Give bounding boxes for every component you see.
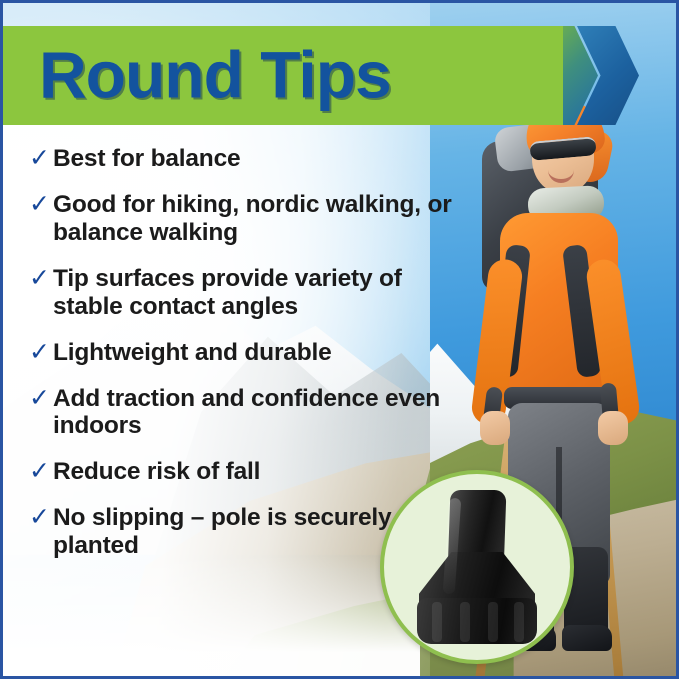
list-item: ✓ Add traction and confidence even indoo… bbox=[29, 385, 459, 441]
feature-text: Reduce risk of fall bbox=[53, 458, 260, 486]
check-icon: ✓ bbox=[29, 265, 53, 292]
check-icon: ✓ bbox=[29, 145, 53, 172]
check-icon: ✓ bbox=[29, 339, 53, 366]
feature-text: Good for hiking, nordic walking, or bala… bbox=[53, 191, 459, 247]
pole-tip-tread bbox=[432, 602, 442, 642]
list-item: ✓ Best for balance bbox=[29, 145, 459, 173]
check-icon: ✓ bbox=[29, 458, 53, 485]
pole-tip-tread bbox=[460, 602, 470, 642]
hiker-hand-right bbox=[598, 411, 628, 445]
list-item: ✓ Good for hiking, nordic walking, or ba… bbox=[29, 191, 459, 247]
feature-list: ✓ Best for balance ✓ Good for hiking, no… bbox=[29, 145, 459, 578]
pole-tip-tread bbox=[514, 602, 524, 642]
check-icon: ✓ bbox=[29, 191, 53, 218]
list-item: ✓ Reduce risk of fall bbox=[29, 458, 459, 486]
product-inset-circle bbox=[380, 470, 574, 664]
feature-text: Add traction and confidence even indoors bbox=[53, 385, 459, 441]
page-title: Round Tips bbox=[39, 41, 391, 107]
check-icon: ✓ bbox=[29, 385, 53, 412]
hiker-hand-left bbox=[480, 411, 510, 445]
list-item: ✓ Tip surfaces provide variety of stable… bbox=[29, 265, 459, 321]
check-icon: ✓ bbox=[29, 504, 53, 531]
boot-right bbox=[562, 625, 612, 651]
feature-text: Tip surfaces provide variety of stable c… bbox=[53, 265, 459, 321]
header-banner: Round Tips bbox=[3, 26, 563, 125]
pole-tip-tread bbox=[488, 602, 498, 642]
feature-text: Best for balance bbox=[53, 145, 240, 173]
list-item: ✓ Lightweight and durable bbox=[29, 339, 459, 367]
feature-text: Lightweight and durable bbox=[53, 339, 332, 367]
product-infographic: Round Tips ✓ Best for balance ✓ Good for… bbox=[0, 0, 679, 679]
